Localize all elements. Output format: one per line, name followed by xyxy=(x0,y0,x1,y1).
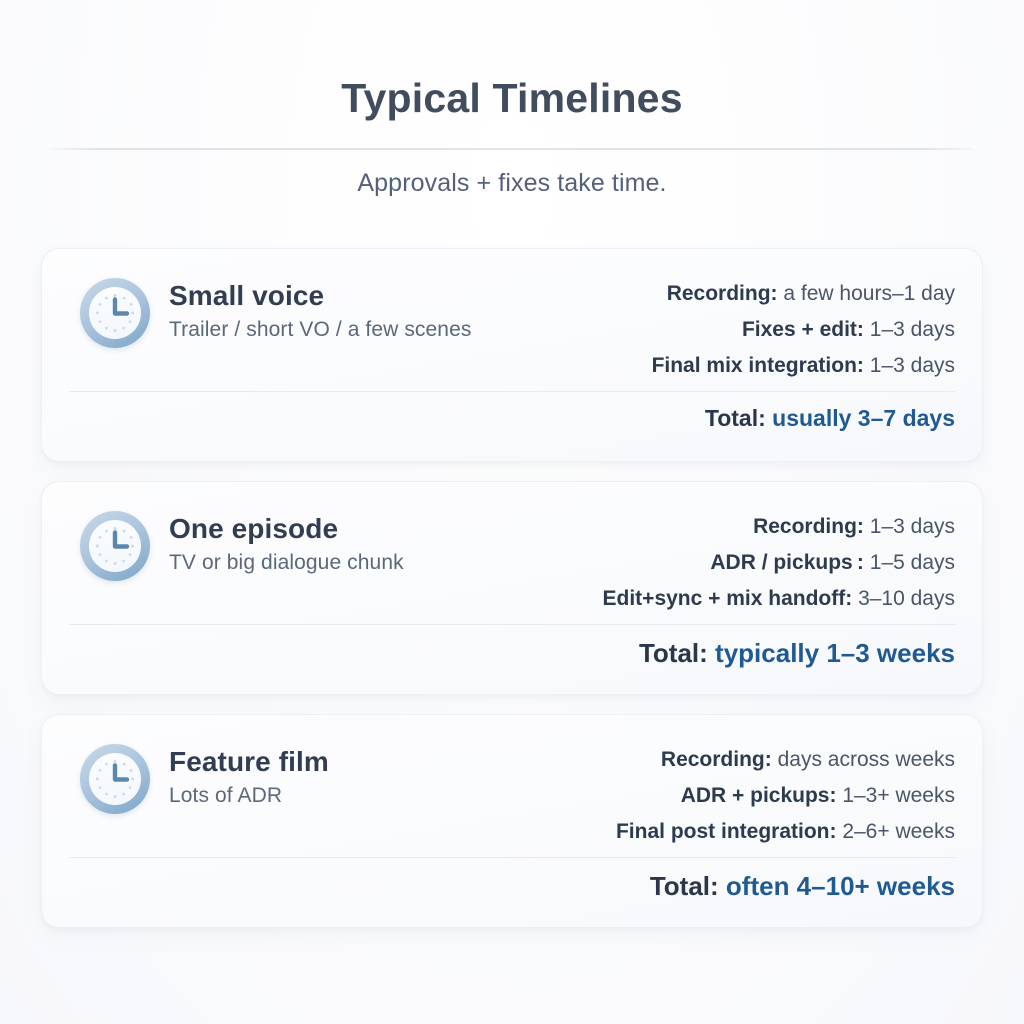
clock-icon xyxy=(80,511,150,581)
clock-face xyxy=(89,753,141,805)
clock-face xyxy=(89,287,141,339)
page-title: Typical Timelines xyxy=(0,76,1024,121)
card-body: Feature film Lots of ADR Recording: days… xyxy=(69,733,955,845)
card-body: One episode TV or big dialogue chunk Rec… xyxy=(69,500,955,612)
detail-row-value: 1–3 days xyxy=(870,354,955,377)
detail-row-value: 1–3+ weeks xyxy=(842,784,955,807)
clock-icon-wrap xyxy=(69,267,161,348)
header-divider xyxy=(50,148,974,150)
clock-face xyxy=(89,520,141,572)
card-total: Total: usually 3–7 days xyxy=(69,405,955,432)
card-headings: Small voice Trailer / short VO / a few s… xyxy=(161,267,521,342)
timelines-page: Typical Timelines Approvals + fixes take… xyxy=(0,0,1024,1024)
total-label: Total: xyxy=(705,405,766,431)
detail-row-value: a few hours–1 day xyxy=(783,282,955,305)
detail-row-label: ADR / pickups : xyxy=(710,551,864,574)
detail-row-value: days across weeks xyxy=(778,748,955,771)
card-title: One episode xyxy=(169,512,521,545)
card-title: Feature film xyxy=(169,745,521,778)
detail-row-label: Recording: xyxy=(753,515,864,538)
card-headings: Feature film Lots of ADR xyxy=(161,733,521,808)
detail-row: Recording: days across weeks xyxy=(661,747,955,772)
detail-row-label: Final mix integration: xyxy=(652,354,864,377)
page-subtitle: Approvals + fixes take time. xyxy=(0,169,1024,198)
detail-row-label: Final post integration: xyxy=(616,820,837,843)
timeline-card-one-episode[interactable]: One episode TV or big dialogue chunk Rec… xyxy=(41,481,983,695)
clock-icon-wrap xyxy=(69,500,161,581)
card-divider xyxy=(69,857,955,858)
card-divider xyxy=(69,624,955,625)
detail-row-value: 3–10 days xyxy=(858,587,955,610)
total-value: typically 1–3 weeks xyxy=(715,638,955,668)
total-label: Total: xyxy=(650,871,719,901)
card-detail-rows: Recording: a few hours–1 day Fixes + edi… xyxy=(521,267,955,379)
detail-row: Edit+sync + mix handoff: 3–10 days xyxy=(603,586,955,611)
total-value: often 4–10+ weeks xyxy=(726,871,955,901)
card-headings: One episode TV or big dialogue chunk xyxy=(161,500,521,575)
detail-row-value: 1–5 days xyxy=(870,551,955,574)
detail-row-label: Recording: xyxy=(667,282,778,305)
detail-row-value: 2–6+ weeks xyxy=(842,820,955,843)
detail-row: Fixes + edit: 1–3 days xyxy=(742,317,955,342)
detail-row: Recording: 1–3 days xyxy=(753,514,955,539)
card-title: Small voice xyxy=(169,279,521,312)
card-subtitle: Lots of ADR xyxy=(169,784,521,808)
clock-icon xyxy=(80,744,150,814)
detail-row: ADR / pickups : 1–5 days xyxy=(710,550,955,575)
card-subtitle: Trailer / short VO / a few scenes xyxy=(169,318,521,342)
card-total: Total: often 4–10+ weeks xyxy=(69,871,955,902)
detail-row-value: 1–3 days xyxy=(870,318,955,341)
detail-row: Recording: a few hours–1 day xyxy=(667,281,955,306)
card-total: Total: typically 1–3 weeks xyxy=(69,638,955,669)
detail-row-value: 1–3 days xyxy=(870,515,955,538)
total-label: Total: xyxy=(639,638,708,668)
card-detail-rows: Recording: days across weeks ADR + picku… xyxy=(521,733,955,845)
total-value: usually 3–7 days xyxy=(772,405,955,431)
clock-icon xyxy=(80,278,150,348)
timeline-card-small-voice[interactable]: Small voice Trailer / short VO / a few s… xyxy=(41,248,983,462)
detail-row-label: ADR + pickups: xyxy=(681,784,837,807)
detail-row-label: Fixes + edit: xyxy=(742,318,864,341)
timeline-card-feature-film[interactable]: Feature film Lots of ADR Recording: days… xyxy=(41,714,983,928)
timeline-card-list: Small voice Trailer / short VO / a few s… xyxy=(0,248,1024,928)
card-subtitle: TV or big dialogue chunk xyxy=(169,551,521,575)
detail-row: Final post integration: 2–6+ weeks xyxy=(616,819,955,844)
detail-row-label: Edit+sync + mix handoff: xyxy=(603,587,853,610)
page-header: Typical Timelines Approvals + fixes take… xyxy=(0,0,1024,198)
detail-row-label: Recording: xyxy=(661,748,772,771)
card-detail-rows: Recording: 1–3 days ADR / pickups : 1–5 … xyxy=(521,500,955,612)
card-divider xyxy=(69,391,955,392)
detail-row: ADR + pickups: 1–3+ weeks xyxy=(681,783,955,808)
card-body: Small voice Trailer / short VO / a few s… xyxy=(69,267,955,379)
clock-icon-wrap xyxy=(69,733,161,814)
detail-row: Final mix integration: 1–3 days xyxy=(652,353,955,378)
